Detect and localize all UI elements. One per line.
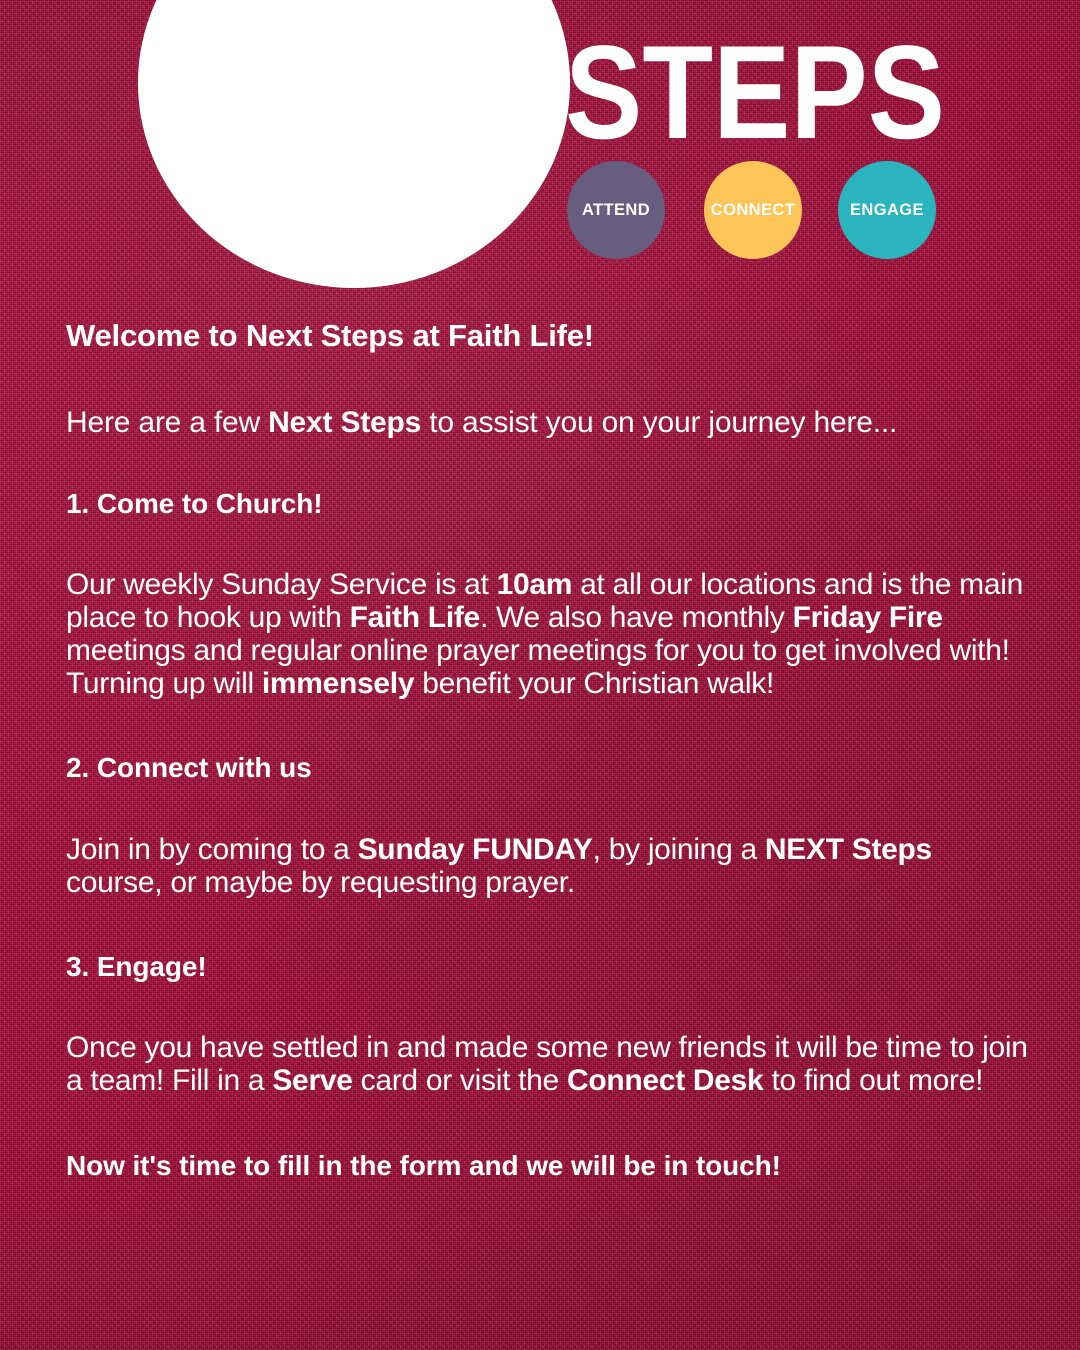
poster-canvas: NEXT STEPS ATTEND CONNECT ENGAGE Welcome… xyxy=(0,0,1080,1350)
section-body-1: Our weekly Sunday Service is at 10am at … xyxy=(66,568,1032,700)
logo-next-knockout-shape xyxy=(138,0,570,288)
badge-attend[interactable]: ATTEND xyxy=(567,161,665,259)
badge-engage[interactable]: ENGAGE xyxy=(838,161,936,259)
logo-steps-text: STEPS xyxy=(565,19,945,167)
badge-attend-label: ATTEND xyxy=(582,202,650,219)
logo-header: NEXT STEPS ATTEND CONNECT ENGAGE xyxy=(0,0,1080,290)
section-heading-3: 3. Engage! xyxy=(66,951,1032,983)
section-heading-2: 2. Connect with us xyxy=(66,752,1032,784)
badge-connect[interactable]: CONNECT xyxy=(704,161,802,259)
badge-engage-label: ENGAGE xyxy=(850,202,924,219)
badge-connect-label: CONNECT xyxy=(711,202,795,219)
section-body-2: Join in by coming to a Sunday FUNDAY, by… xyxy=(66,833,1032,899)
intro-paragraph: Here are a few Next Steps to assist you … xyxy=(66,406,1032,441)
poster-body: Welcome to Next Steps at Faith Life! Her… xyxy=(66,318,1032,1182)
section-body-3: Once you have settled in and made some n… xyxy=(66,1031,1032,1097)
section-heading-1: 1. Come to Church! xyxy=(66,488,1032,520)
closing-call-to-action: Now it's time to fill in the form and we… xyxy=(66,1149,1032,1183)
welcome-heading: Welcome to Next Steps at Faith Life! xyxy=(66,318,1032,354)
badge-row: ATTEND CONNECT ENGAGE xyxy=(567,161,939,261)
